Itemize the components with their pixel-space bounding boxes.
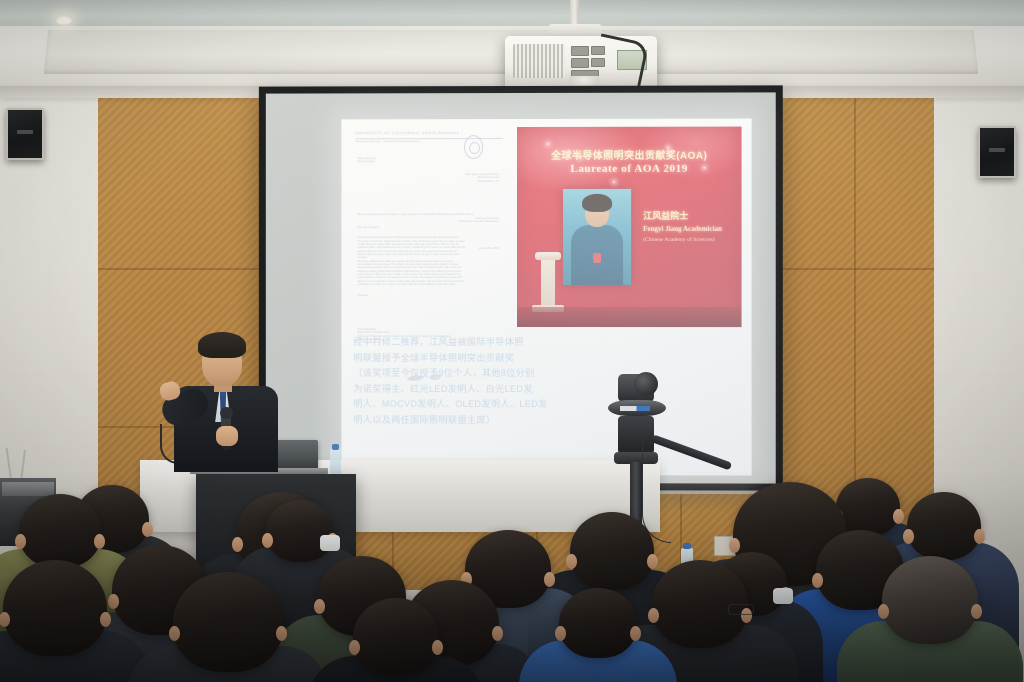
downlight-icon <box>56 16 72 25</box>
audience-ear <box>169 626 180 641</box>
portrait-badge <box>593 253 601 263</box>
award-stage-floor <box>517 307 742 327</box>
audience-ear <box>903 529 914 544</box>
letter-recipient: Selection CommitteeGlobal Semiconductor … <box>458 217 499 224</box>
audience-ear <box>108 594 119 609</box>
award-ceremony-photo: 全球半导体照明突出贡献奖(AOA) Laureate of AOA 2019 江… <box>517 127 742 328</box>
audience-ear <box>100 612 111 627</box>
audience-ear <box>566 554 577 569</box>
audience-head <box>19 494 101 568</box>
laureate-portrait <box>563 189 631 285</box>
audience-ear <box>974 529 985 544</box>
letter-letterhead: UNIVERSITY OF CALIFORNIA, SANTA BARBARA <box>355 131 509 135</box>
laureate-name-chinese: 江风益院士 <box>643 209 735 222</box>
camera-label-strip <box>620 406 650 411</box>
wood-seam <box>854 96 856 526</box>
audience-head <box>907 492 981 560</box>
audience-head <box>353 598 439 676</box>
laureate-affiliation: (Chinese Academy of Sciences) <box>643 237 739 243</box>
audience-head <box>559 588 637 658</box>
award-title-english: Laureate of AOA 2019 <box>517 163 742 175</box>
receiver-front-panel <box>2 482 54 496</box>
letter-body: I am Shuji Nakamura, Professor of Materi… <box>357 236 501 286</box>
slide-caption-line: 经中村修二推荐，江风益被国际半导体照 <box>353 335 745 351</box>
lecture-hall-photo: UNIVERSITY OF CALIFORNIA, SANTA BARBARA … <box>0 0 1024 682</box>
audience-ear <box>15 534 26 549</box>
projector-vent-grille <box>513 44 565 78</box>
audience-ear <box>878 604 889 619</box>
audience-ear <box>647 554 658 569</box>
slide-caption-line: 明联盟授予全球半导体照明突出贡献奖 <box>353 350 745 366</box>
audience-ear <box>971 604 982 619</box>
wood-wall-panel-right <box>778 96 934 526</box>
camera-lens-icon <box>634 372 658 396</box>
face-mask <box>773 588 793 604</box>
award-stage-podium <box>541 259 555 311</box>
audience-ear <box>648 608 659 623</box>
water-bottle-podium <box>330 449 341 477</box>
letter-from-block: Shuji NakamuraNobel Laureate <box>357 157 501 164</box>
audience-ear <box>544 572 555 587</box>
audience-ear <box>276 626 287 641</box>
audience-head <box>3 560 107 656</box>
letter-salutation: Dear Sir or Madam: <box>357 226 501 230</box>
presenter-hair <box>198 332 246 358</box>
audience-ear <box>142 522 153 537</box>
wall-mounted-loudspeaker-right <box>978 126 1016 178</box>
letter-closing: Sincerely, <box>357 294 501 297</box>
wood-seam <box>98 268 280 270</box>
presenter-at-podium <box>160 330 290 470</box>
face-mask <box>320 535 340 551</box>
audience-head <box>570 512 654 590</box>
audience-head <box>266 500 334 562</box>
wall-mounted-loudspeaker-left <box>6 108 44 160</box>
wood-seam <box>778 268 934 270</box>
laureate-name-english: Fengyi Jiang Academician <box>643 225 739 233</box>
letter-address-block: Solid State Lighting & EnergyElectronics… <box>465 173 499 183</box>
ceiling-strip <box>0 0 1024 26</box>
letter-date: January 8th, 2019 <box>478 247 499 250</box>
audience-ear <box>0 612 10 627</box>
projector-port <box>571 46 589 56</box>
audience-head <box>882 556 978 644</box>
camera-cable <box>642 432 671 543</box>
eyeglasses-icon <box>728 604 754 615</box>
university-seal-icon <box>464 135 483 159</box>
presenter-hand-holding-mic <box>216 426 238 446</box>
audience-head <box>173 572 283 672</box>
portrait-hair <box>582 194 612 212</box>
projector-port <box>571 58 589 68</box>
audience-ear <box>432 640 443 655</box>
award-title-chinese: 全球半导体照明突出贡献奖(AOA) <box>517 147 742 162</box>
stage-light-glow <box>547 143 549 145</box>
letter-body-line: yield-based and LED, the method of surfa… <box>357 283 501 286</box>
audience-ear <box>94 534 105 549</box>
audience-ear <box>349 640 360 655</box>
audience-ear <box>630 626 641 641</box>
audience-ear <box>555 626 566 641</box>
stage-light-glow <box>613 181 615 183</box>
